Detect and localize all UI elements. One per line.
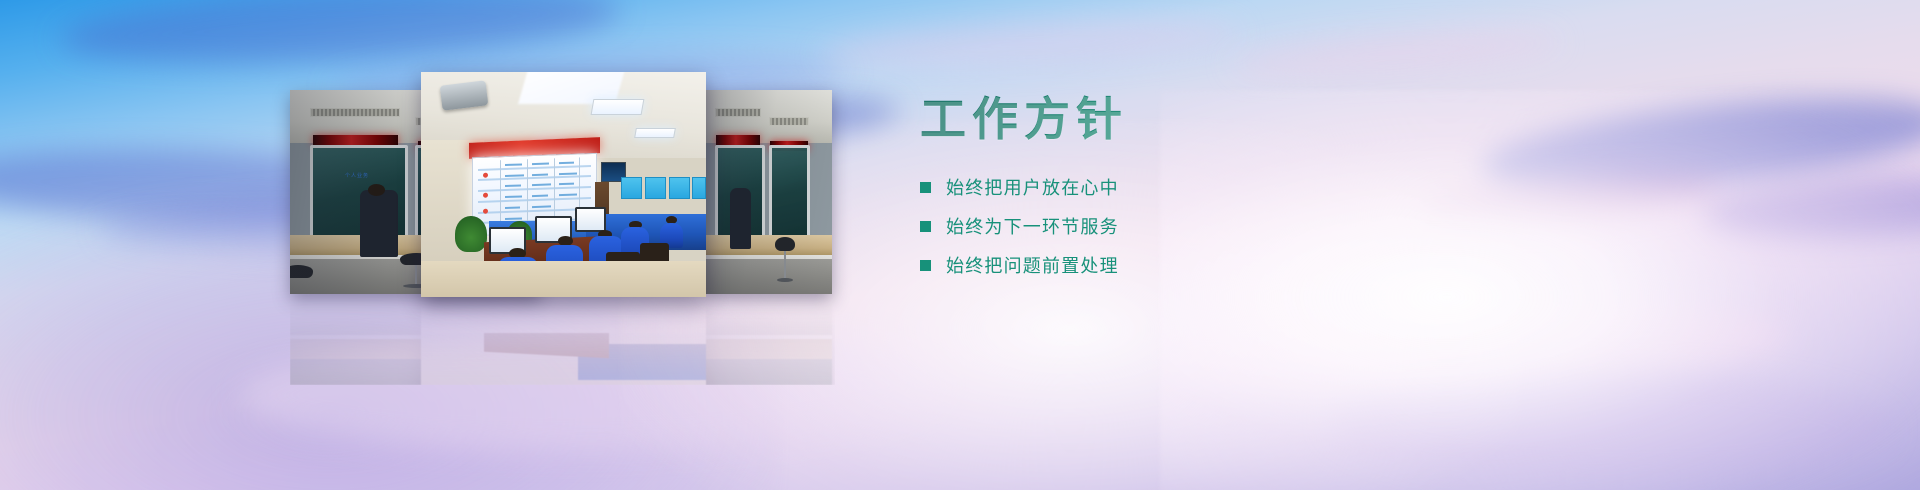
list-item: 始终把问题前置处理: [920, 254, 1480, 276]
teller-scene-art: [705, 90, 832, 294]
photo-collage: 个人业务 对公业务: [290, 72, 835, 297]
square-bullet-icon: [920, 260, 931, 271]
list-item: 始终把用户放在心中: [920, 176, 1480, 198]
square-bullet-icon: [920, 221, 931, 232]
square-bullet-icon: [920, 182, 931, 193]
policy-list: 始终把用户放在心中 始终为下一环节服务 始终把问题前置处理: [920, 176, 1480, 276]
control-room-scene-art: [421, 72, 706, 297]
list-item-label: 始终把问题前置处理: [946, 252, 1119, 278]
collage-reflection: [290, 297, 835, 385]
banner-text-block: 工作方针 始终把用户放在心中 始终为下一环节服务 始终把问题前置处理: [920, 92, 1480, 293]
work-policy-banner: 个人业务 对公业务: [0, 0, 1920, 490]
service-counter-photo: [705, 90, 832, 294]
list-item-label: 始终把用户放在心中: [946, 174, 1119, 200]
dispatch-control-room-photo: [421, 72, 706, 297]
list-item: 始终为下一环节服务: [920, 215, 1480, 237]
list-item-label: 始终为下一环节服务: [946, 213, 1119, 239]
page-title: 工作方针: [920, 92, 1480, 146]
